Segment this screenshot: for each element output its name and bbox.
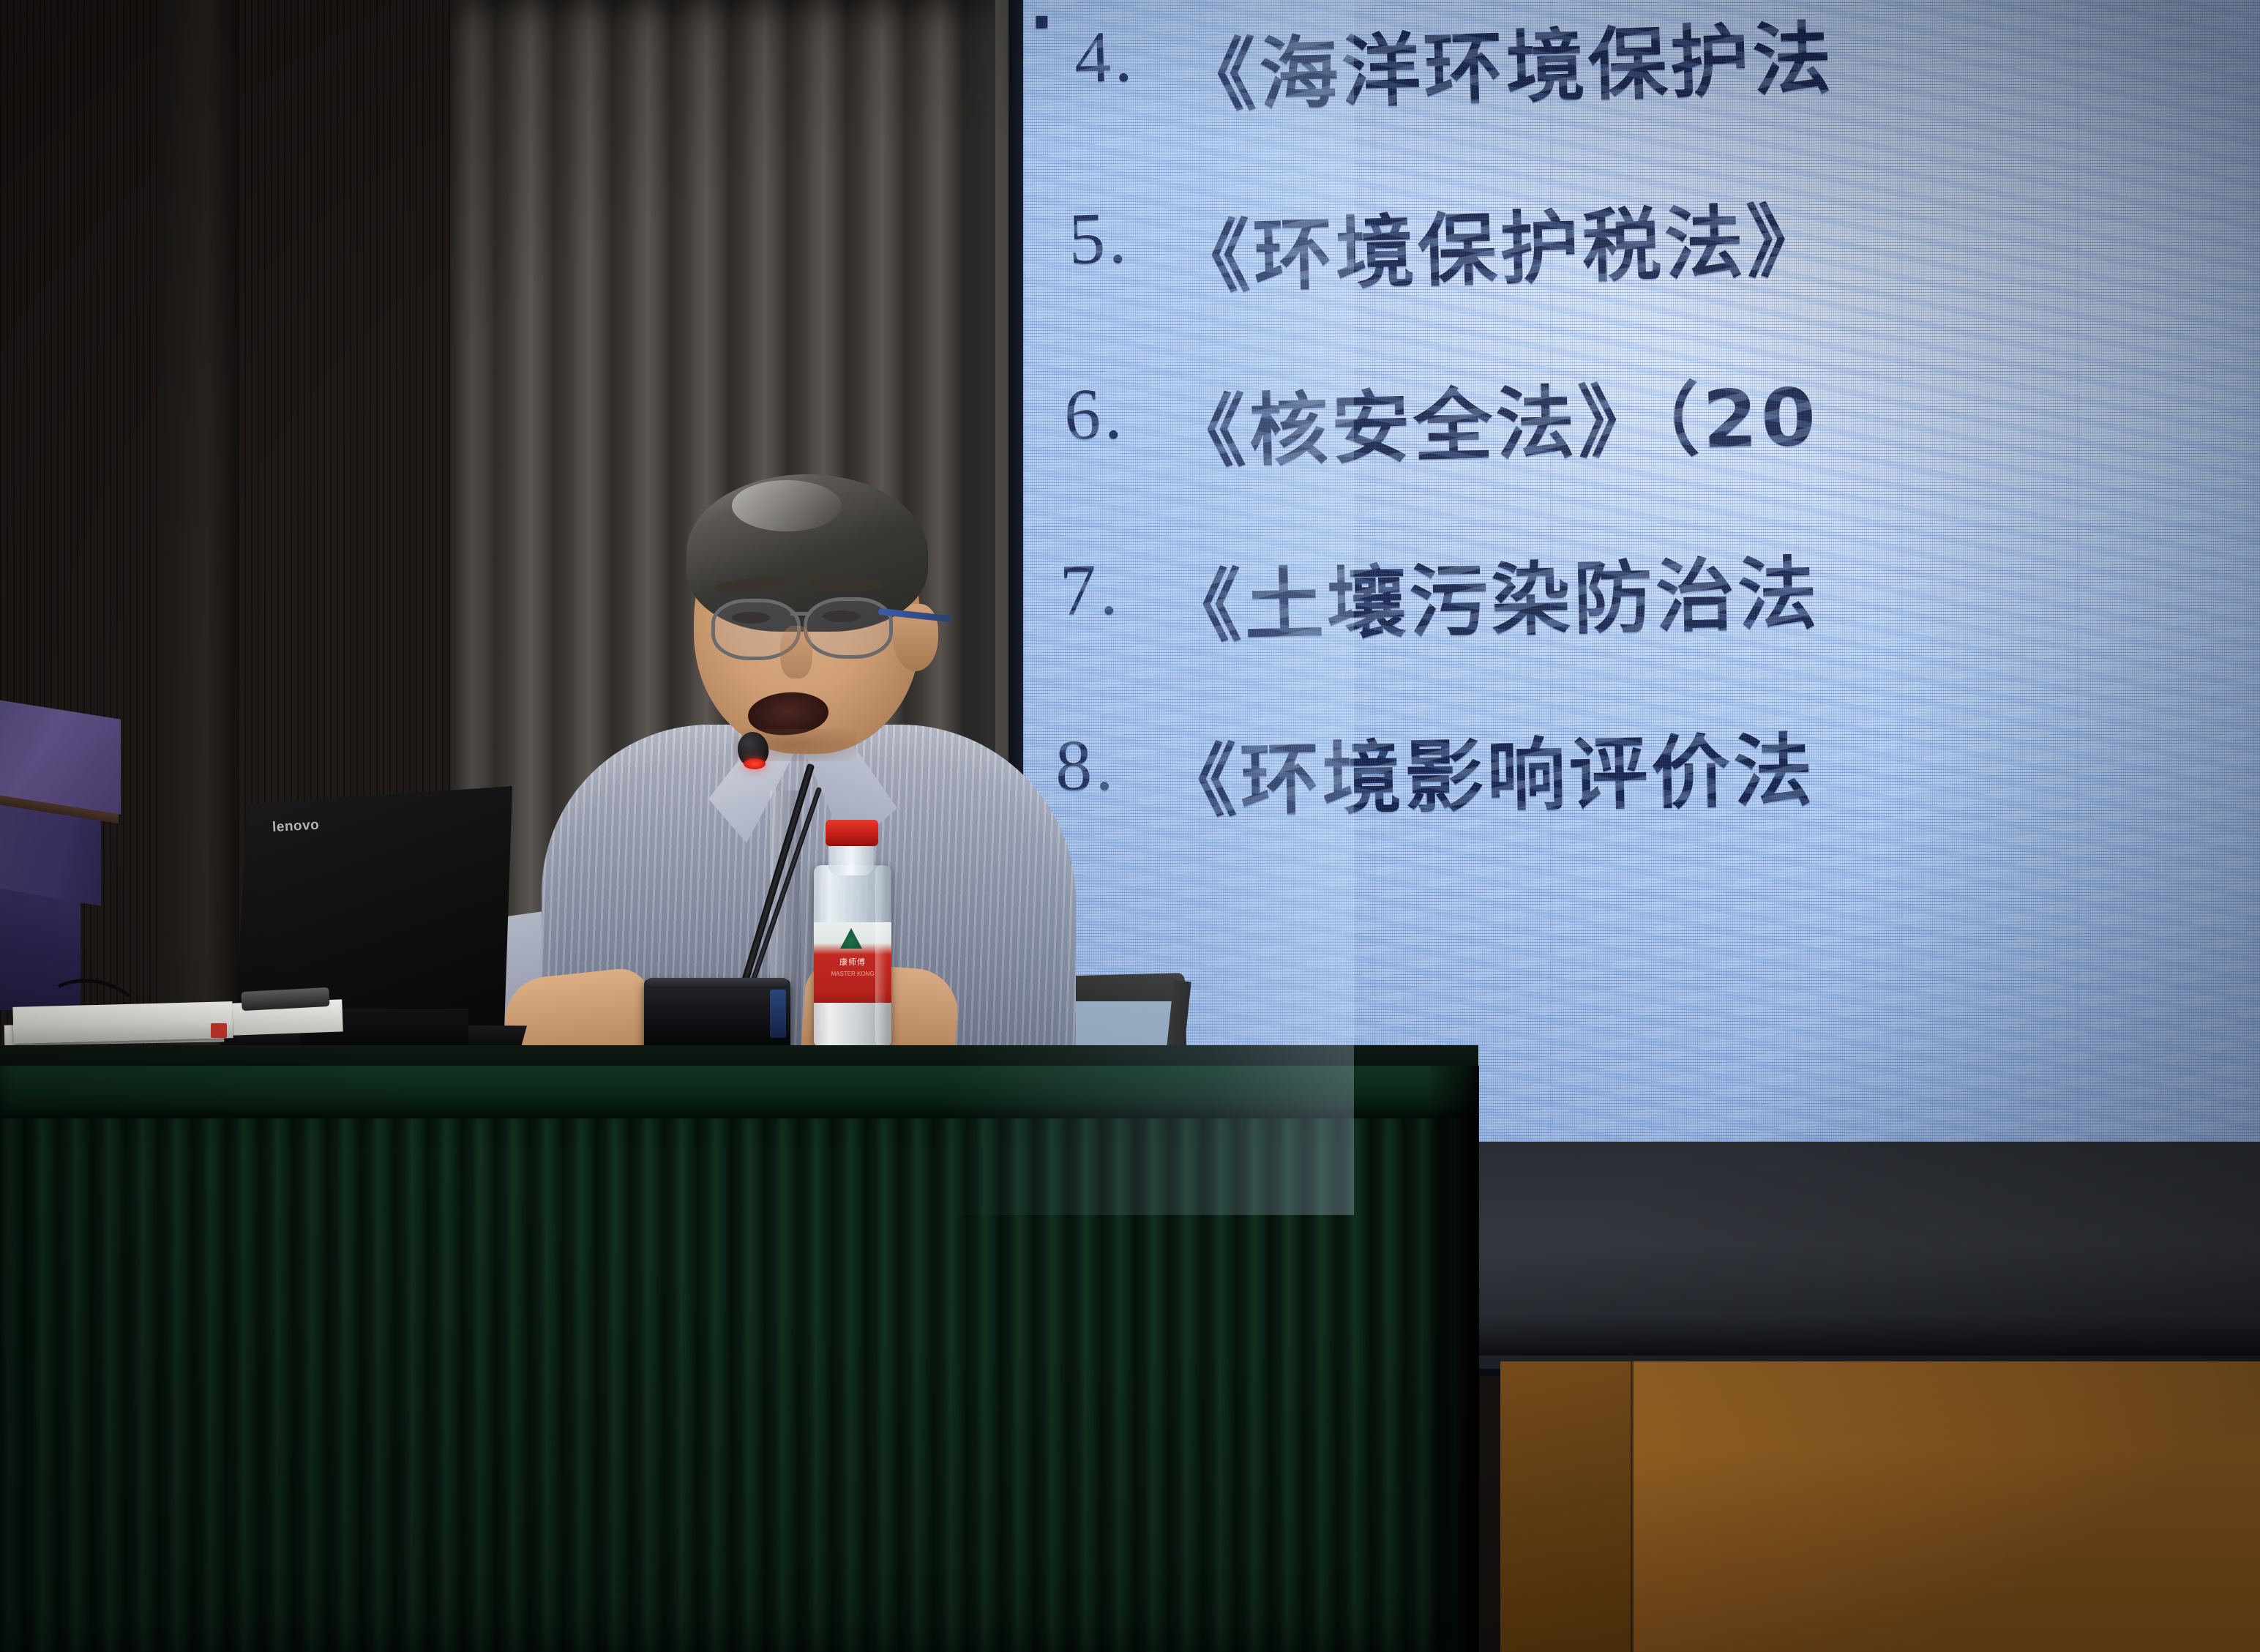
table-skirt — [0, 1066, 1478, 1652]
led-screen: 3. 4. 《海洋环境保护法 5. 《环境保护税法》 6. 《核安全法》（20 … — [1023, 0, 2260, 1142]
microphone-base-top — [647, 978, 787, 988]
water-bottle-cap[interactable] — [826, 820, 878, 846]
table-skirt-right-shadow — [1431, 1066, 1479, 1652]
microphone-base-unit[interactable] — [644, 979, 790, 1047]
red-clip[interactable] — [211, 1023, 227, 1038]
table-skirt-header-band — [0, 1066, 1478, 1118]
speaker-nose — [780, 626, 812, 679]
wood-wall-seam — [1631, 1361, 1634, 1652]
speaker-hair-highlight — [732, 480, 842, 531]
speaker — [512, 468, 1069, 1069]
microphone-status-led — [744, 758, 766, 769]
wall-gap-left — [161, 0, 238, 1069]
laptop-brand-logo: lenovo — [272, 817, 330, 834]
screen-vignette — [1023, 0, 2260, 1142]
glasses-bridge — [790, 612, 809, 616]
wood-wall-lower-right-edge — [1500, 1361, 1632, 1652]
podium-top — [0, 699, 121, 815]
glasses-lens-right — [804, 597, 893, 659]
microphone-base-indicator — [770, 990, 786, 1038]
paper-stack[interactable] — [12, 1001, 233, 1044]
water-bottle-highlight — [875, 865, 887, 1047]
lecture-hall-photo: 3. 4. 《海洋环境保护法 5. 《环境保护税法》 6. 《核安全法》（20 … — [0, 0, 2260, 1652]
